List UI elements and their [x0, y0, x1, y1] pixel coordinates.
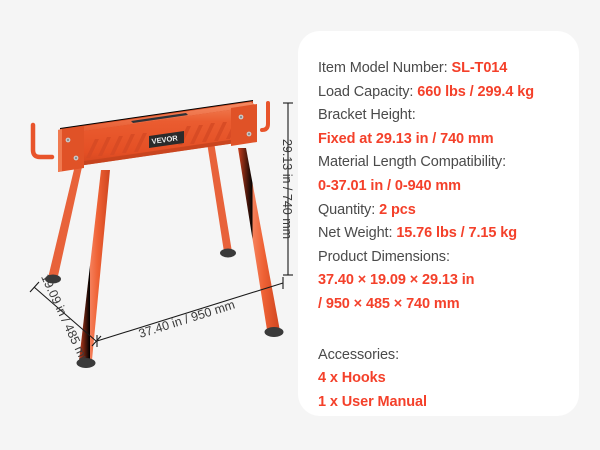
product-spec-screenshot: VEVOR [0, 0, 600, 450]
spec-bracket-value-row: Fixed at 29.13 in / 740 mm [318, 128, 579, 152]
spec-quantity-label: Quantity: [318, 202, 375, 218]
spec-weight-label: Net Weight: [318, 225, 392, 241]
leg-front-left [79, 170, 110, 361]
spec-model-value: SL-T014 [452, 60, 508, 76]
spec-dimensions-inches-row: 37.40 × 19.09 × 29.13 in [318, 269, 579, 293]
spec-quantity-row: Quantity: 2 pcs [318, 199, 579, 223]
spec-model-row: Item Model Number: SL-T014 [318, 57, 579, 81]
hook-right [262, 103, 268, 130]
spec-material-label-row: Material Length Compatibility: [318, 151, 579, 175]
spec-weight-row: Net Weight: 15.76 lbs / 7.15 kg [318, 222, 579, 246]
foot-back-right [220, 249, 236, 258]
bracket-right [231, 104, 257, 146]
spec-load-row: Load Capacity: 660 lbs / 299.4 kg [318, 81, 579, 105]
leg-front-right [238, 148, 280, 331]
specification-card: Item Model Number: SL-T014 Load Capacity… [298, 31, 579, 416]
bracket-left [58, 126, 84, 172]
spec-dimensions-label-row: Product Dimensions: [318, 246, 579, 270]
leg-back-left [48, 157, 84, 278]
leg-back-right [206, 136, 232, 252]
spec-accessories-label-row: Accessories: [318, 344, 579, 368]
height-dimension-label: 29.13 in / 740 mm [280, 139, 294, 239]
hook-left [33, 125, 52, 157]
spec-accessory-hooks-row: 4 x Hooks [318, 367, 579, 391]
spec-model-label: Item Model Number: [318, 60, 448, 76]
spec-accessory-manual-row: 1 x User Manual [318, 391, 579, 415]
product-illustration: VEVOR [0, 0, 300, 450]
width-dimension-label: 37.40 in / 950 mm [137, 297, 237, 340]
spec-load-label: Load Capacity: [318, 84, 413, 100]
section-spacer [318, 317, 579, 344]
spec-material-value-row: 0-37.01 in / 0-940 mm [318, 175, 579, 199]
spec-load-value: 660 lbs / 299.4 kg [417, 84, 534, 100]
spec-weight-value: 15.76 lbs / 7.15 kg [396, 225, 517, 241]
beam-group: VEVOR [33, 100, 268, 172]
foot-front-right [265, 327, 284, 337]
spec-bracket-label-row: Bracket Height: [318, 104, 579, 128]
spec-quantity-value: 2 pcs [379, 202, 416, 218]
spec-dimensions-mm-row: / 950 × 485 × 740 mm [318, 293, 579, 317]
